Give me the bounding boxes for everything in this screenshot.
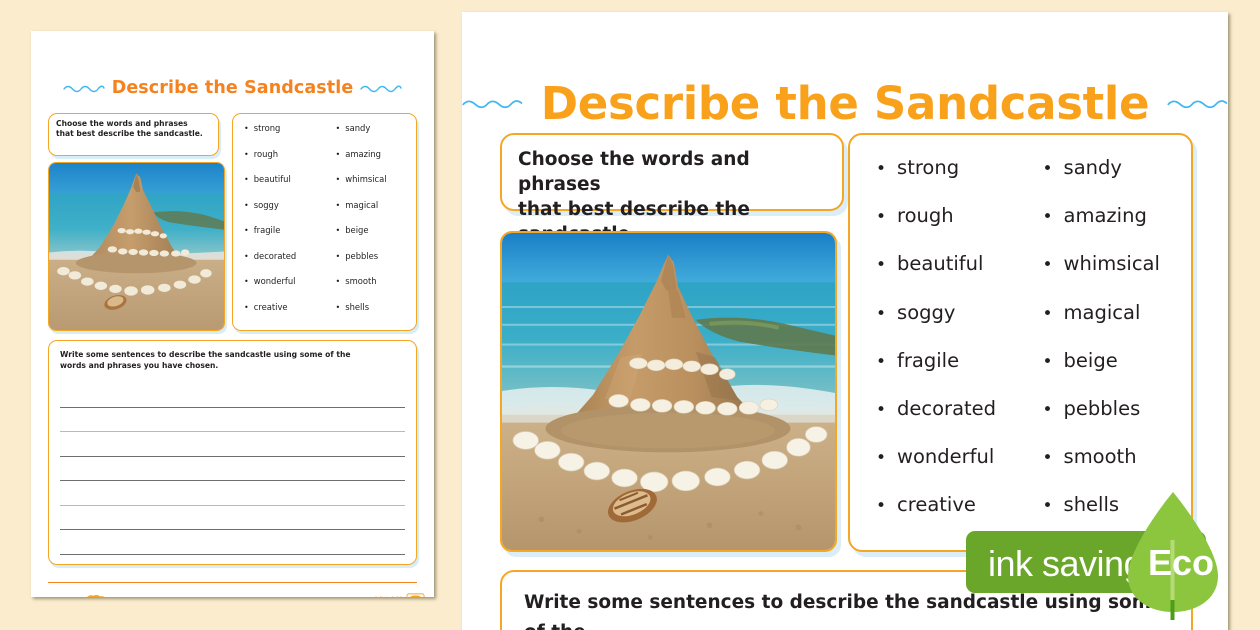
word-label: soggy <box>254 200 279 210</box>
writing-rule[interactable] <box>60 530 405 555</box>
word-label: smooth <box>345 276 376 286</box>
word-item-magical[interactable]: •magical <box>1043 301 1192 349</box>
instruction-box: Choose the words and phrases that best d… <box>500 133 844 211</box>
bullet-icon: • <box>1043 306 1053 323</box>
writing-rule[interactable] <box>60 383 405 408</box>
word-label: rough <box>897 204 954 227</box>
word-item-wonderful[interactable]: •wonderful <box>876 445 1025 493</box>
bullet-icon: • <box>1043 450 1053 467</box>
thumbnail-word-item[interactable]: •creative <box>244 302 325 328</box>
write-instruction-line-1: Write some sentences to describe the san… <box>524 588 1169 630</box>
bullet-icon: • <box>336 151 341 159</box>
word-label: whimsical <box>1064 252 1160 275</box>
word-item-beige[interactable]: •beige <box>1043 349 1192 397</box>
bullet-icon: • <box>244 227 249 235</box>
bullet-icon: • <box>336 227 341 235</box>
word-label: beautiful <box>254 174 291 184</box>
thumbnail-word-item[interactable]: •strong <box>244 123 325 149</box>
word-item-pebbles[interactable]: •pebbles <box>1043 397 1192 445</box>
writing-rule[interactable] <box>60 481 405 506</box>
bullet-icon: • <box>1043 402 1053 419</box>
ink-saving-eco-badge: ink saving Eco <box>966 531 1224 593</box>
bullet-icon: • <box>1043 498 1053 515</box>
thumbnail-word-item[interactable]: •beige <box>336 225 417 251</box>
word-label: wonderful <box>897 445 994 468</box>
word-label: strong <box>254 123 281 133</box>
word-item-decorated[interactable]: •decorated <box>876 397 1025 445</box>
thumbnail-write-line-2: words and phrases you have chosen. <box>60 360 405 371</box>
word-label: sandy <box>1064 156 1122 179</box>
bullet-icon: • <box>1043 257 1053 274</box>
word-label: sandy <box>345 123 370 133</box>
bullet-icon: • <box>876 209 886 226</box>
writing-rule[interactable] <box>60 408 405 433</box>
bullet-icon: • <box>336 125 341 133</box>
thumbnail-word-item[interactable]: •beautiful <box>244 174 325 200</box>
word-label: strong <box>897 156 959 179</box>
word-item-beautiful[interactable]: •beautiful <box>876 252 1025 300</box>
word-item-fragile[interactable]: •fragile <box>876 349 1025 397</box>
bullet-icon: • <box>876 402 886 419</box>
bullet-icon: • <box>1043 354 1053 371</box>
word-label: creative <box>897 493 976 516</box>
word-label: creative <box>254 302 288 312</box>
word-label: fragile <box>254 225 281 235</box>
thumbnail-word-column-left: •strong •rough •beautiful •soggy •fragil… <box>233 123 325 330</box>
thumbnail-instruction-line-1: Choose the words and phrases <box>56 119 211 129</box>
bullet-icon: • <box>244 278 249 286</box>
thumbnail-word-item[interactable]: •rough <box>244 149 325 175</box>
bullet-icon: • <box>876 161 886 178</box>
thumbnail-word-item[interactable]: •shells <box>336 302 417 328</box>
word-item-sandy[interactable]: •sandy <box>1043 156 1192 204</box>
word-label: beautiful <box>897 252 983 275</box>
word-label: beige <box>345 225 368 235</box>
writing-rule[interactable] <box>60 506 405 531</box>
word-label: pebbles <box>345 251 378 261</box>
thumbnail-instruction-line-2: that best describe the sandcastle. <box>56 129 211 139</box>
thumbnail-writing-lines[interactable] <box>60 383 405 555</box>
bullet-icon: • <box>336 176 341 184</box>
word-label: shells <box>345 302 369 312</box>
writing-rule[interactable] <box>60 457 405 482</box>
word-label: whimsical <box>345 174 386 184</box>
thumbnail-word-item[interactable]: •pebbles <box>336 251 417 277</box>
word-label: beige <box>1064 349 1118 372</box>
thumbnail-page-preview[interactable]: Describe the Sandcastle Choose the words… <box>31 31 434 597</box>
word-column-right: •sandy •amazing •whimsical •magical •bei… <box>1025 156 1192 542</box>
thumbnail-word-list-box: •strong •rough •beautiful •soggy •fragil… <box>232 113 417 331</box>
bullet-icon: • <box>876 257 886 274</box>
word-label: amazing <box>1064 204 1147 227</box>
thumbnail-word-item[interactable]: •fragile <box>244 225 325 251</box>
bullet-icon: • <box>876 354 886 371</box>
thumbnail-sandcastle-photo <box>48 162 225 331</box>
bullet-icon: • <box>244 176 249 184</box>
word-label: amazing <box>345 149 381 159</box>
bullet-icon: • <box>336 253 341 261</box>
thumbnail-word-item[interactable]: •smooth <box>336 276 417 302</box>
thumbnail-instruction-box: Choose the words and phrases that best d… <box>48 113 219 156</box>
thumbnail-word-item[interactable]: •decorated <box>244 251 325 277</box>
bullet-icon: • <box>1043 161 1053 178</box>
bullet-icon: • <box>244 304 249 312</box>
twinkl-logo-icon: twinkl <box>81 594 114 597</box>
word-item-amazing[interactable]: •amazing <box>1043 204 1192 252</box>
word-label: decorated <box>254 251 297 261</box>
word-item-rough[interactable]: •rough <box>876 204 1025 252</box>
instruction-line-1: Choose the words and phrases <box>518 148 826 198</box>
bullet-icon: • <box>244 151 249 159</box>
thumbnail-write-box: Write some sentences to describe the san… <box>48 340 417 565</box>
bullet-icon: • <box>244 125 249 133</box>
eco-label: Eco <box>1148 542 1214 584</box>
word-item-smooth[interactable]: •smooth <box>1043 445 1192 493</box>
bullet-icon: • <box>336 304 341 312</box>
thumbnail-word-item[interactable]: •amazing <box>336 149 417 175</box>
word-label: rough <box>254 149 278 159</box>
thumbnail-word-item[interactable]: •soggy <box>244 200 325 226</box>
bullet-icon: • <box>876 498 886 515</box>
word-item-soggy[interactable]: •soggy <box>876 301 1025 349</box>
word-label: magical <box>1064 301 1141 324</box>
thumbnail-word-column-right: •sandy •amazing •whimsical •magical •bei… <box>325 123 417 330</box>
wave-decoration-right-icon <box>360 83 402 93</box>
ink-saving-label: ink saving <box>988 543 1143 585</box>
word-column-left: •strong •rough •beautiful •soggy •fragil… <box>850 156 1025 542</box>
bullet-icon: • <box>244 253 249 261</box>
thumbnail-title-row: Describe the Sandcastle <box>31 75 434 101</box>
bullet-icon: • <box>244 202 249 210</box>
bullet-icon: • <box>336 202 341 210</box>
bullet-icon: • <box>876 450 886 467</box>
bullet-icon: • <box>876 306 886 323</box>
main-title-row: Describe the Sandcastle <box>462 72 1228 134</box>
thumbnail-page-title: Describe the Sandcastle <box>112 78 354 98</box>
word-label: magical <box>345 200 378 210</box>
writing-rule[interactable] <box>60 432 405 457</box>
bullet-icon: • <box>1043 209 1053 226</box>
word-label: soggy <box>897 301 955 324</box>
thumbnail-write-line-1: Write some sentences to describe the san… <box>60 349 405 360</box>
word-label: decorated <box>897 397 996 420</box>
sandcastle-photo-artwork <box>49 163 224 330</box>
thumbnail-footer-divider <box>48 582 417 583</box>
wave-decoration-left-icon <box>63 83 105 93</box>
twinkl-badge-icon <box>406 592 425 597</box>
wave-decoration-left-icon <box>462 93 523 113</box>
sandcastle-photo <box>500 231 837 552</box>
bullet-icon: • <box>336 278 341 286</box>
word-label: smooth <box>1064 445 1137 468</box>
word-item-whimsical[interactable]: •whimsical <box>1043 252 1192 300</box>
sandcastle-photo-artwork <box>502 233 835 550</box>
thumbnail-word-item[interactable]: •sandy <box>336 123 417 149</box>
thumbnail-word-item[interactable]: •whimsical <box>336 174 417 200</box>
word-label: shells <box>1064 493 1120 516</box>
word-label: wonderful <box>254 276 296 286</box>
thumbnail-word-item[interactable]: •magical <box>336 200 417 226</box>
word-label: fragile <box>897 349 959 372</box>
word-label: pebbles <box>1064 397 1141 420</box>
page-title: Describe the Sandcastle <box>541 77 1150 130</box>
word-item-strong[interactable]: •strong <box>876 156 1025 204</box>
thumbnail-word-item[interactable]: •wonderful <box>244 276 325 302</box>
wave-decoration-right-icon <box>1167 93 1228 113</box>
